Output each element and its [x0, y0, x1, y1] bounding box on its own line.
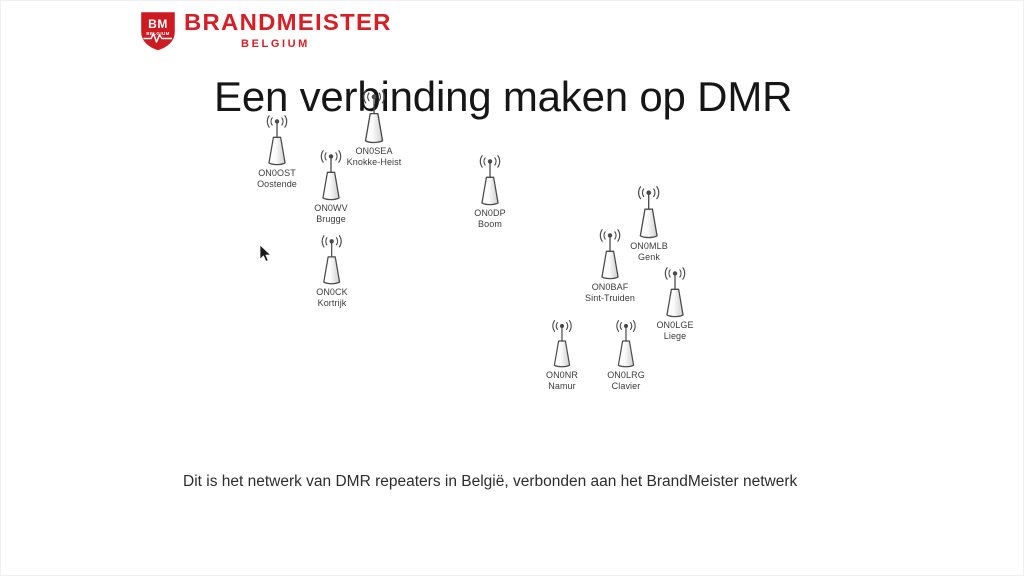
mouse-cursor-icon	[259, 244, 273, 264]
shield-initials: BM	[138, 18, 178, 30]
antenna-tower-icon	[355, 89, 393, 145]
repeater-city: Brugge	[271, 214, 391, 225]
repeater-city: Clavier	[566, 381, 686, 392]
antenna-tower-icon	[314, 234, 349, 286]
brandmeister-wordmark: BRANDMEISTER	[184, 11, 392, 34]
antenna-tower-icon	[472, 154, 508, 207]
presentation-slide: BM BELGIUM BRANDMEISTER BELGIUM Een verb…	[0, 0, 1024, 576]
brandmeister-logo: BM BELGIUM BRANDMEISTER BELGIUM	[138, 7, 384, 53]
repeater-callsign: ON0CK	[272, 287, 392, 298]
antenna-tower-icon	[609, 319, 643, 369]
repeater-callsign: ON0DP	[430, 208, 550, 219]
repeater-callsign: ON0LRG	[566, 370, 686, 381]
repeater-callsign: ON0WV	[271, 203, 391, 214]
repeater-city: Boom	[430, 219, 550, 230]
repeater-marker[interactable]: ON0WVBrugge	[271, 149, 391, 225]
repeater-marker[interactable]: ON0CKKortrijk	[272, 234, 392, 309]
antenna-tower-icon	[657, 266, 693, 319]
repeater-city: Kortrijk	[272, 298, 392, 309]
repeater-marker[interactable]: ON0DPBoom	[430, 154, 550, 230]
slide-caption: Dit is het netwerk van DMR repeaters in …	[183, 469, 803, 494]
repeater-marker[interactable]: ON0LRGClavier	[566, 319, 686, 392]
brandmeister-shield-icon: BM BELGIUM	[138, 8, 178, 53]
antenna-tower-icon	[313, 149, 349, 202]
shield-subtitle: BELGIUM	[138, 32, 178, 37]
brandmeister-wordmark-subtitle: BELGIUM	[184, 39, 367, 50]
